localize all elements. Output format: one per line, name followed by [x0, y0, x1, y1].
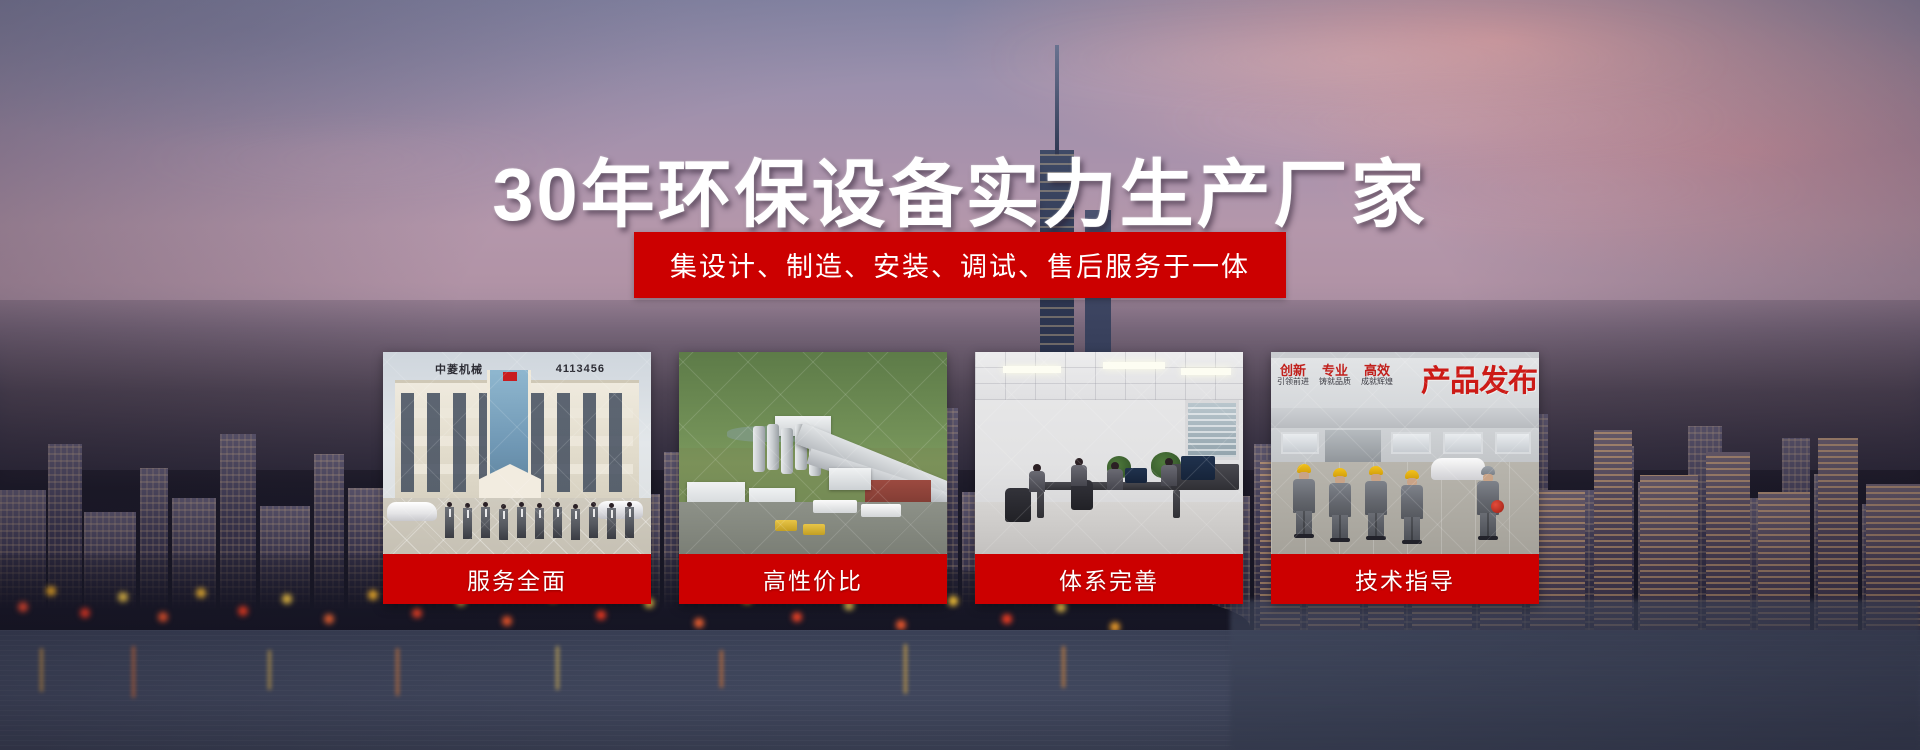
- card-caption: 体系完善: [975, 554, 1243, 604]
- feature-card[interactable]: 创新 引领前进 专业 铸就品质 高效 成就辉煌 产品发布: [1271, 352, 1539, 604]
- feature-card[interactable]: 高性价比: [679, 352, 947, 604]
- card-caption: 服务全面: [383, 554, 651, 604]
- wall-slogan-small: 成就辉煌: [1361, 378, 1393, 386]
- wall-slogan-small: 引领前进: [1277, 378, 1309, 386]
- building-signage: 中菱机械 4113456: [435, 361, 605, 376]
- wall-slogan-big: 专业: [1322, 364, 1348, 377]
- card-image-office: [975, 352, 1243, 554]
- card-image-service: 中菱机械 4113456: [383, 352, 651, 554]
- wall-slogan-big: 高效: [1364, 364, 1390, 377]
- subtitle-badge: 集设计、制造、安装、调试、售后服务于一体: [634, 232, 1286, 298]
- card-caption: 高性价比: [679, 554, 947, 604]
- subtitle-badge-wrap: 集设计、制造、安装、调试、售后服务于一体: [0, 232, 1920, 298]
- hero-banner: 30年环保设备实力生产厂家 集设计、制造、安装、调试、售后服务于一体 中菱机械 …: [0, 0, 1920, 750]
- wall-slogan-small: 铸就品质: [1319, 378, 1351, 386]
- wall-banner-text: 产品发布: [1421, 356, 1537, 400]
- red-helmet-icon: [1491, 500, 1504, 513]
- feature-card-list: 中菱机械 4113456: [383, 352, 1539, 604]
- banner-content: 30年环保设备实力生产厂家 集设计、制造、安装、调试、售后服务于一体 中菱机械 …: [0, 0, 1920, 750]
- card-image-plant: [679, 352, 947, 554]
- company-sign-phone: 4113456: [556, 363, 605, 375]
- feature-card[interactable]: 中菱机械 4113456: [383, 352, 651, 604]
- card-image-guidance: 创新 引领前进 专业 铸就品质 高效 成就辉煌 产品发布: [1271, 352, 1539, 554]
- wall-slogan-big: 创新: [1280, 364, 1306, 377]
- card-caption: 技术指导: [1271, 554, 1539, 604]
- feature-card[interactable]: 体系完善: [975, 352, 1243, 604]
- company-sign-text: 中菱机械: [435, 361, 483, 377]
- page-title: 30年环保设备实力生产厂家: [0, 154, 1920, 235]
